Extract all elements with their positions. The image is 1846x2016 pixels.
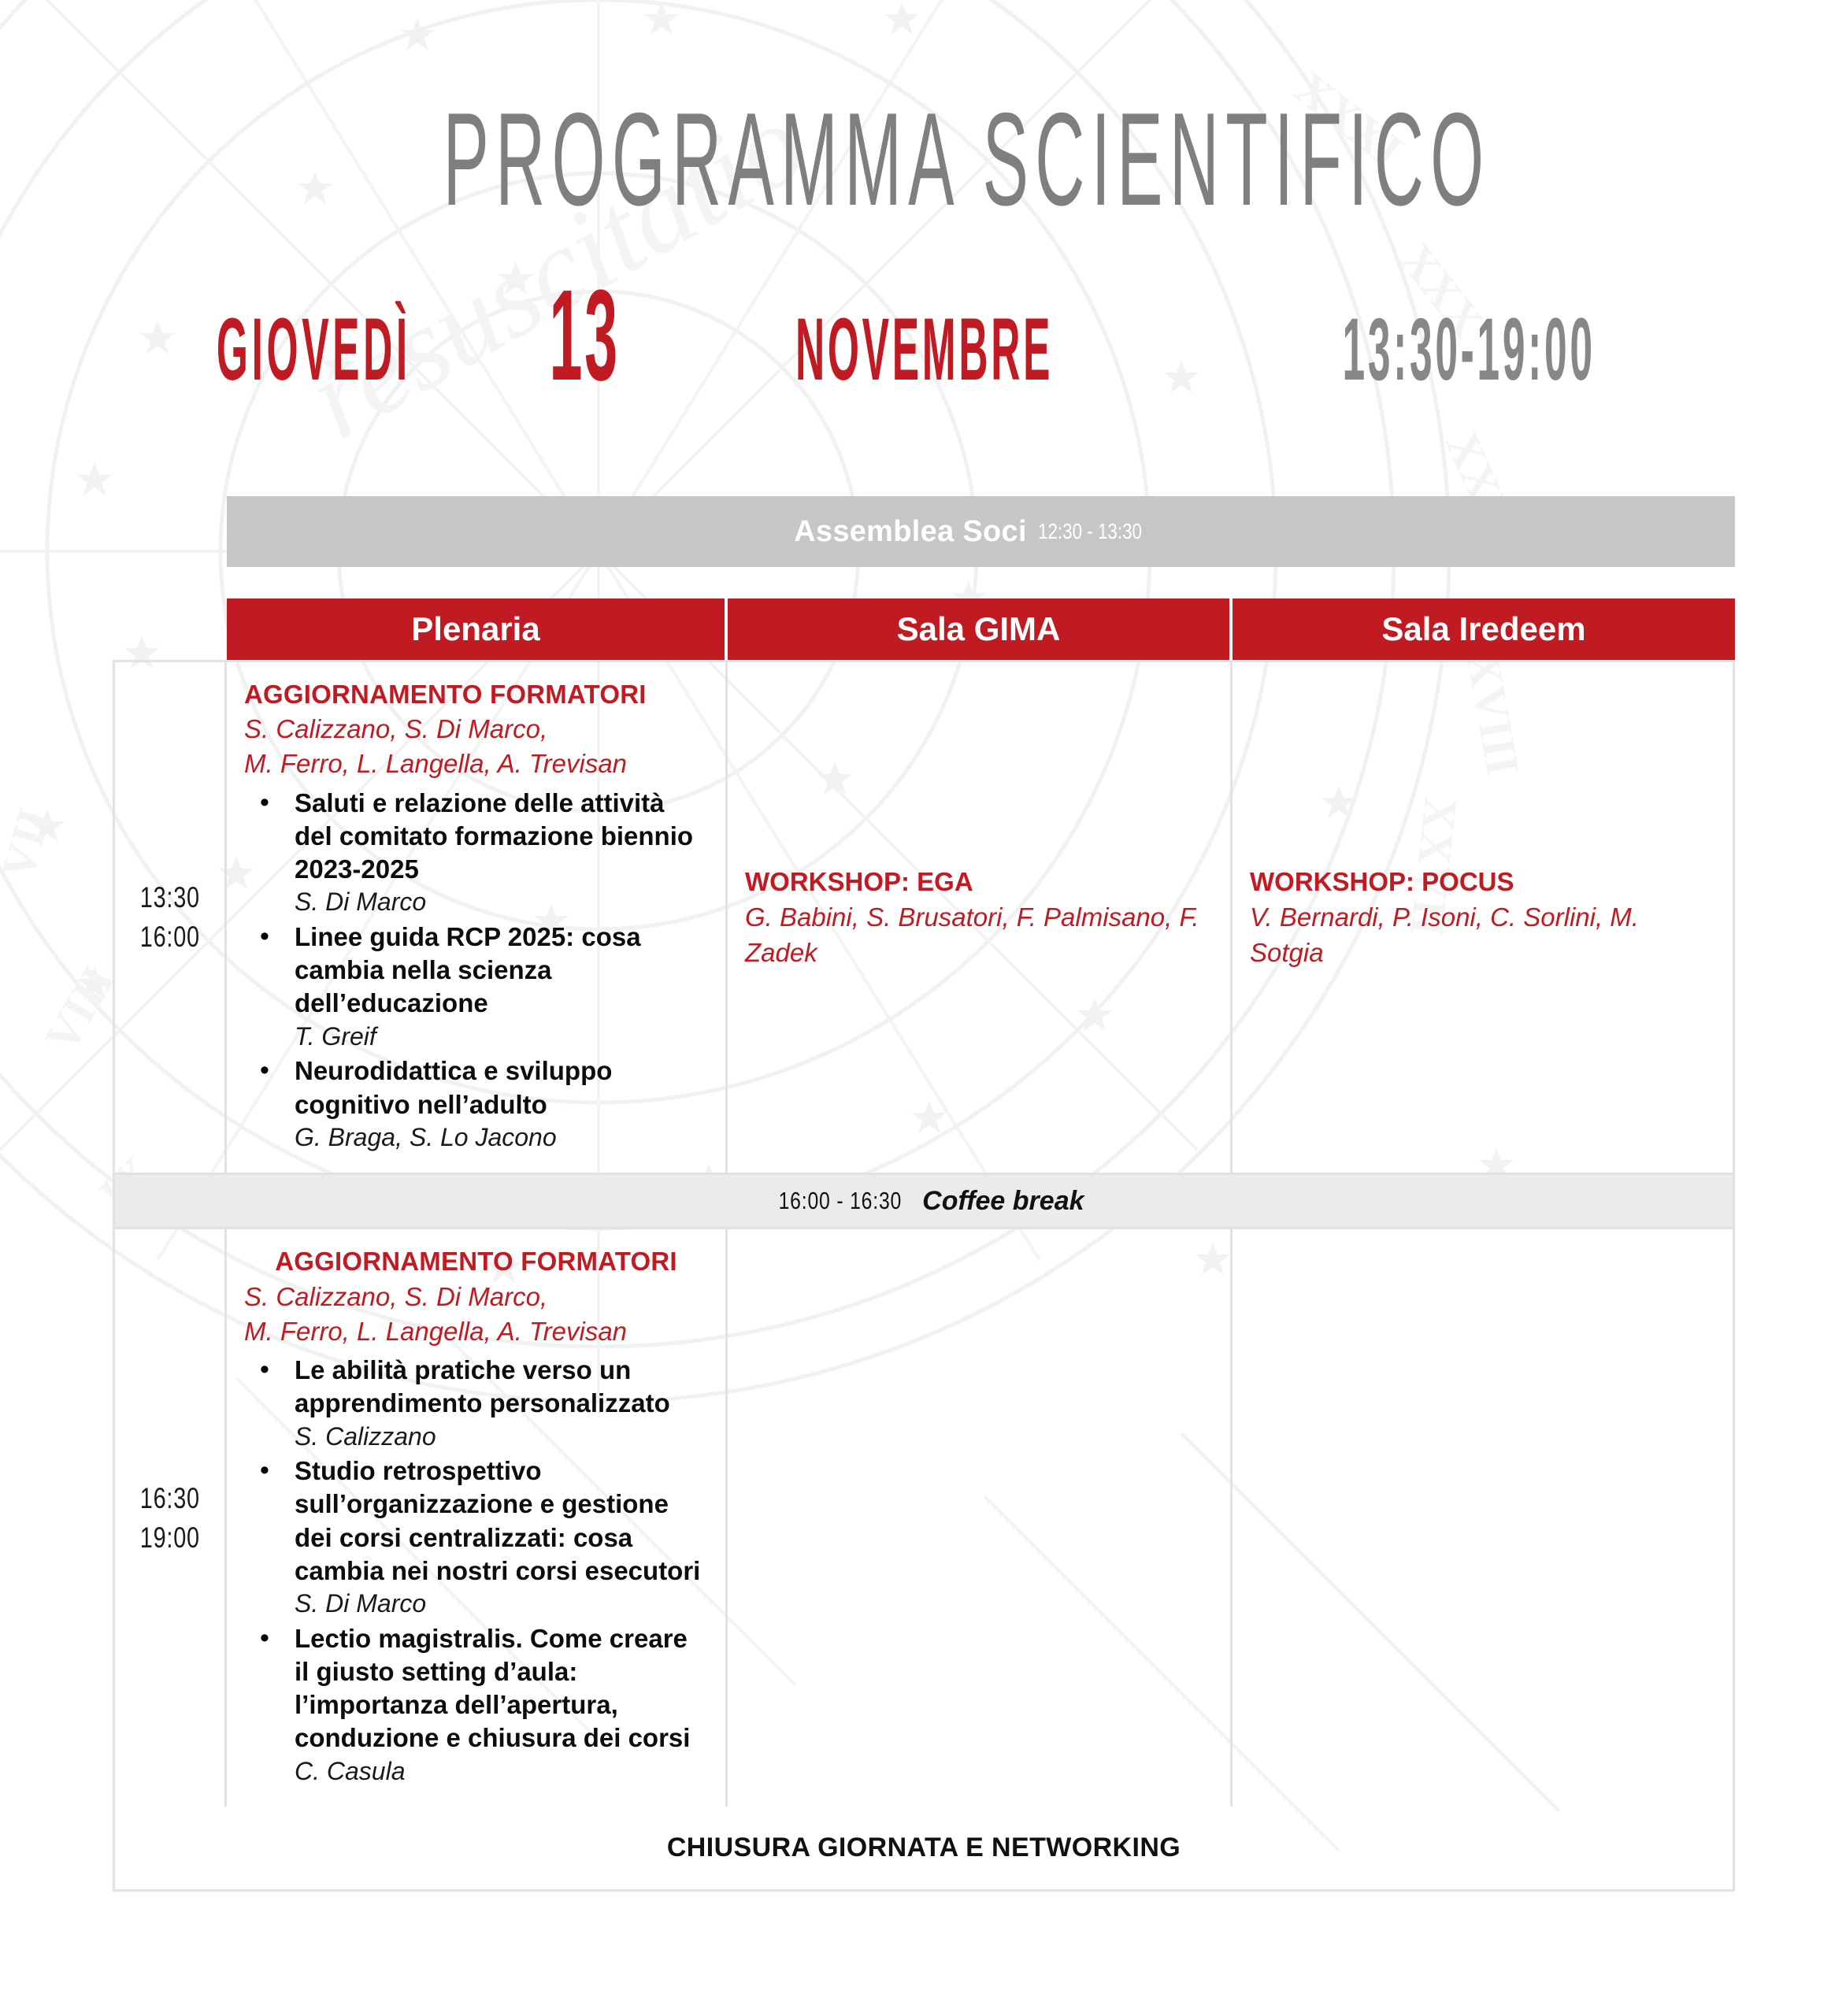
coffee-break-label: Coffee break — [922, 1186, 1084, 1217]
table-row: 16:30 19:00 AGGIORNAMENTO FORMATORI S. C… — [113, 1229, 1735, 1807]
coffee-break-row: 16:00 - 16:30 Coffee break — [113, 1173, 1735, 1229]
row-time-start: 13:30 — [139, 878, 199, 917]
row-time-cell: 13:30 16:00 — [113, 662, 227, 1173]
column-header-sala-iredeem: Sala Iredeem — [1233, 598, 1735, 660]
session-faculty: S. Calizzano, S. Di Marco, M. Ferro, L. … — [244, 1280, 708, 1349]
cell-sala-gima — [728, 1229, 1233, 1807]
date-line: GIOVEDÌ 13 NOVEMBRE 13:30-19:00 — [0, 271, 1846, 400]
talk-title: Studio retrospettivo sull’organizzazione… — [295, 1455, 708, 1588]
schedule-table: Assemblea Soci 12:30 - 13:30 Plenaria Sa… — [113, 496, 1735, 1892]
list-item: Saluti e relazione delle attività del co… — [244, 787, 708, 919]
column-header-sala-gima-label: Sala GIMA — [897, 610, 1061, 648]
talk-title: Lectio magistralis. Come creare il giust… — [295, 1622, 708, 1755]
talk-speaker: C. Casula — [295, 1755, 708, 1788]
cell-plenaria: AGGIORNAMENTO FORMATORI S. Calizzano, S.… — [227, 1229, 728, 1807]
talk-speaker: S. Di Marco — [295, 1588, 708, 1621]
session-faculty-line1: S. Calizzano, S. Di Marco, — [244, 1280, 708, 1314]
talk-speaker: S. Calizzano — [295, 1421, 708, 1454]
list-item: Linee guida RCP 2025: cosa cambia nella … — [244, 921, 708, 1053]
cell-sala-gima: WORKSHOP: EGA G. Babini, S. Brusatori, F… — [728, 662, 1233, 1173]
column-header-row: Plenaria Sala GIMA Sala Iredeem — [227, 598, 1735, 660]
talk-speaker: T. Greif — [295, 1021, 708, 1054]
session-title: AGGIORNAMENTO FORMATORI — [244, 678, 708, 710]
coffee-break-time: 16:00 - 16:30 — [779, 1187, 903, 1215]
closing-row: CHIUSURA GIORNATA E NETWORKING — [113, 1807, 1735, 1892]
talk-title: Neurodidattica e sviluppo cognitivo nell… — [295, 1054, 708, 1121]
talk-speaker: G. Braga, S. Lo Jacono — [295, 1121, 708, 1154]
column-header-plenaria-label: Plenaria — [411, 610, 539, 648]
assembly-banner: Assemblea Soci 12:30 - 13:30 — [227, 496, 1735, 567]
column-header-sala-gima: Sala GIMA — [728, 598, 1229, 660]
schedule-grid: Plenaria Sala GIMA Sala Iredeem 13:30 16… — [113, 598, 1735, 1892]
talk-list: Saluti e relazione delle attività del co… — [244, 787, 708, 1154]
cell-sala-iredeem — [1233, 1229, 1735, 1807]
talk-title: Linee guida RCP 2025: cosa cambia nella … — [295, 921, 708, 1021]
session-faculty-line2: M. Ferro, L. Langella, A. Trevisan — [244, 1314, 708, 1349]
column-header-plenaria: Plenaria — [227, 598, 725, 660]
talk-title: Saluti e relazione delle attività del co… — [295, 787, 708, 887]
list-item: Neurodidattica e sviluppo cognitivo nell… — [244, 1054, 708, 1154]
session-faculty-line2: M. Ferro, L. Langella, A. Trevisan — [244, 747, 708, 781]
row-time-end: 16:00 — [139, 917, 199, 957]
row-time-start: 16:30 — [139, 1479, 199, 1518]
date-day-of-week: GIOVEDÌ — [217, 306, 411, 394]
cell-sala-iredeem: WORKSHOP: POCUS V. Bernardi, P. Isoni, C… — [1233, 662, 1735, 1173]
date-time-range: 13:30-19:00 — [1342, 306, 1595, 394]
cell-plenaria: AGGIORNAMENTO FORMATORI S. Calizzano, S.… — [227, 662, 728, 1173]
table-row: 13:30 16:00 AGGIORNAMENTO FORMATORI S. C… — [113, 660, 1735, 1173]
page-title: PROGRAMMA SCIENTIFICO — [443, 0, 1403, 225]
talk-speaker: S. Di Marco — [295, 886, 708, 919]
session-faculty: S. Calizzano, S. Di Marco, M. Ferro, L. … — [244, 712, 708, 781]
closing-label: CHIUSURA GIORNATA E NETWORKING — [667, 1833, 1181, 1863]
assembly-time: 12:30 - 13:30 — [1038, 519, 1142, 544]
workshop-faculty: G. Babini, S. Brusatori, F. Palmisano, F… — [745, 900, 1213, 969]
assembly-label: Assemblea Soci — [794, 515, 1027, 549]
date-day-number: 13 — [550, 271, 620, 400]
talk-title: Le abilità pratiche verso un apprendimen… — [295, 1354, 708, 1420]
session-faculty-line1: S. Calizzano, S. Di Marco, — [244, 712, 708, 747]
talk-list: Le abilità pratiche verso un apprendimen… — [244, 1354, 708, 1788]
row-time-cell: 16:30 19:00 — [113, 1229, 227, 1807]
list-item: Studio retrospettivo sull’organizzazione… — [244, 1455, 708, 1621]
row-time-end: 19:00 — [139, 1518, 199, 1558]
workshop-title: WORKSHOP: EGA — [745, 865, 1213, 899]
column-header-sala-iredeem-label: Sala Iredeem — [1381, 610, 1585, 648]
list-item: Lectio magistralis. Come creare il giust… — [244, 1622, 708, 1788]
workshop-title: WORKSHOP: POCUS — [1250, 865, 1715, 899]
program-page: PROGRAMMA SCIENTIFICO GIOVEDÌ 13 NOVEMBR… — [0, 0, 1846, 2016]
workshop-faculty: V. Bernardi, P. Isoni, C. Sorlini, M. So… — [1250, 900, 1715, 969]
list-item: Le abilità pratiche verso un apprendimen… — [244, 1354, 708, 1453]
date-month: NOVEMBRE — [795, 306, 1053, 394]
session-title: AGGIORNAMENTO FORMATORI — [244, 1245, 708, 1277]
